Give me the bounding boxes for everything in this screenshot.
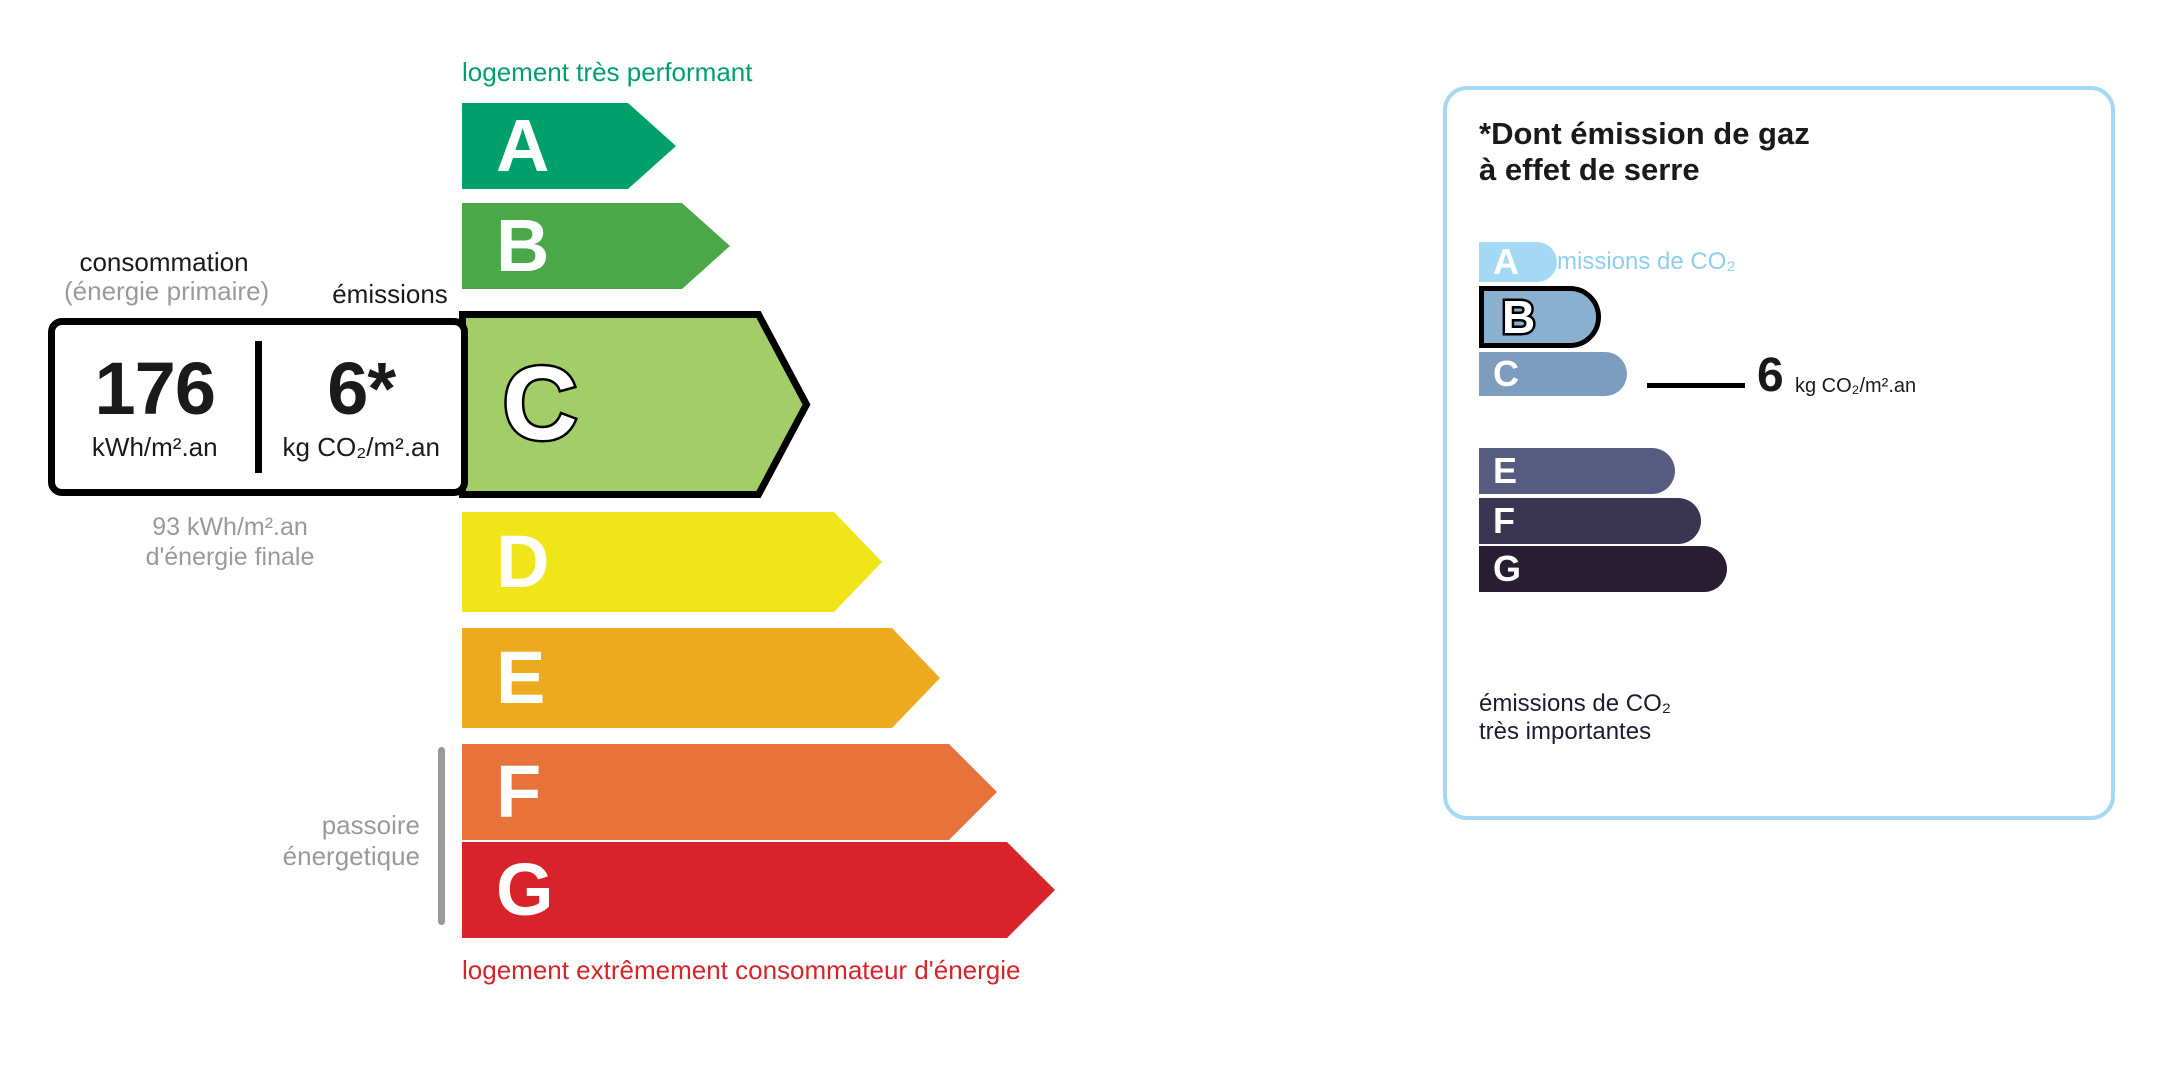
- co2-band-e: E: [1479, 448, 1675, 494]
- co2-band-bar-d: D: [1479, 402, 1651, 446]
- final-energy-note: 93 kWh/m².an d'énergie finale: [70, 512, 390, 572]
- co2-bottom-caption-line2: très importantes: [1479, 718, 1671, 746]
- consumption-label-main: consommation: [64, 248, 264, 277]
- energy-band-a: A: [462, 103, 676, 189]
- energy-band-letter-a: A: [496, 109, 549, 183]
- emissions-cell: 6* kg CO₂/m².an: [262, 325, 462, 489]
- co2-band-b: B: [1479, 286, 1601, 348]
- consumption-value: 176: [95, 352, 215, 426]
- consumption-unit: kWh/m².an: [92, 432, 218, 463]
- energy-performance-scale: logement très performant ABCDEFG logemen…: [0, 0, 1340, 1079]
- energy-band-letter-c: C: [503, 352, 578, 456]
- value-box: 176 kWh/m².an 6* kg CO₂/m².an: [48, 318, 468, 496]
- co2-title-line1: *Dont émission de gaz: [1479, 116, 1810, 152]
- co2-band-bar-g: G: [1479, 546, 1727, 592]
- co2-band-f: F: [1479, 498, 1701, 544]
- co2-bottom-caption-line1: émissions de CO₂: [1479, 690, 1671, 718]
- co2-band-bar-a: A: [1479, 242, 1557, 282]
- co2-panel: *Dont émission de gaz à effet de serre p…: [1443, 86, 2115, 820]
- co2-band-letter-e: E: [1493, 453, 1517, 489]
- co2-band-a: A: [1479, 242, 1557, 282]
- co2-band-bar-c: C: [1479, 352, 1627, 396]
- energy-band-letter-e: E: [496, 641, 545, 715]
- energy-band-b: B: [462, 203, 730, 289]
- energy-band-e: E: [462, 628, 940, 728]
- emissions-unit: kg CO₂/m².an: [283, 432, 440, 463]
- co2-band-letter-a: A: [1493, 244, 1519, 280]
- co2-band-d: D: [1479, 402, 1651, 446]
- passoire-label: passoire énergetique: [180, 810, 420, 872]
- co2-band-bar-f: F: [1479, 498, 1701, 544]
- co2-band-letter-g: G: [1493, 551, 1521, 587]
- co2-band-c: C: [1479, 352, 1627, 396]
- co2-bottom-caption: émissions de CO₂ très importantes: [1479, 690, 1671, 747]
- value-box-divider: [255, 341, 262, 473]
- energy-band-d: D: [462, 512, 882, 612]
- consumption-label: consommation (énergie primaire): [64, 248, 264, 306]
- co2-value-unit: kg CO₂/m².an: [1795, 375, 1916, 398]
- final-energy-line2: d'énergie finale: [70, 542, 390, 572]
- emissions-value: 6*: [327, 352, 395, 426]
- co2-value: 6: [1757, 352, 1784, 400]
- energy-band-letter-g: G: [496, 853, 554, 927]
- passoire-bracket: [438, 747, 445, 925]
- final-energy-line1: 93 kWh/m².an: [70, 512, 390, 542]
- co2-band-bar-b: B: [1479, 286, 1601, 348]
- energy-band-c: C: [462, 314, 806, 494]
- consumption-cell: 176 kWh/m².an: [55, 325, 255, 489]
- co2-leader-line: [1647, 383, 1745, 388]
- co2-band-letter-b: B: [1502, 294, 1535, 340]
- co2-band-g: G: [1479, 546, 1727, 592]
- scale-top-caption: logement très performant: [462, 57, 752, 88]
- passoire-label-line2: énergetique: [180, 841, 420, 872]
- energy-band-f: F: [462, 744, 997, 840]
- energy-band-letter-d: D: [496, 525, 549, 599]
- emissions-label: émissions: [300, 279, 480, 310]
- co2-band-letter-d: D: [1493, 406, 1519, 442]
- energy-band-letter-f: F: [496, 755, 541, 829]
- co2-band-letter-f: F: [1493, 503, 1515, 539]
- co2-panel-title: *Dont émission de gaz à effet de serre: [1479, 116, 1810, 187]
- energy-band-letter-b: B: [496, 209, 549, 283]
- co2-band-letter-c: C: [1493, 356, 1519, 392]
- co2-band-bar-e: E: [1479, 448, 1675, 494]
- energy-band-g: G: [462, 842, 1055, 938]
- scale-bottom-caption: logement extrêmement consommateur d'éner…: [462, 955, 1020, 986]
- passoire-label-line1: passoire: [180, 810, 420, 841]
- co2-title-line2: à effet de serre: [1479, 152, 1810, 188]
- consumption-label-sub: (énergie primaire): [64, 277, 264, 306]
